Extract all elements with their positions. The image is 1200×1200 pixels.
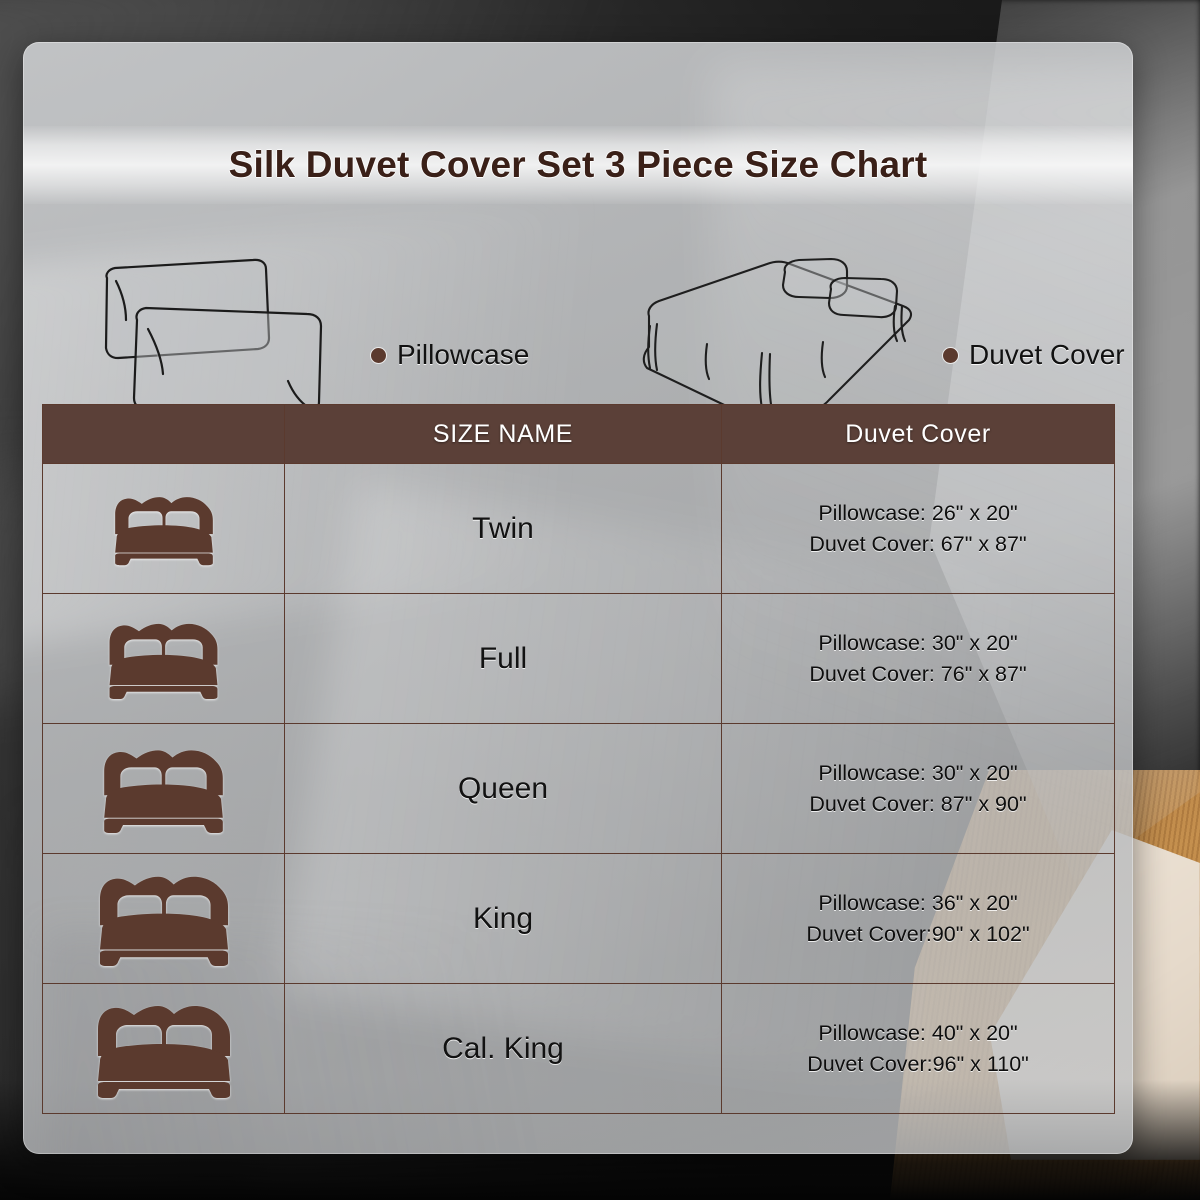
size-chart-table: SIZE NAME Duvet Cover Twin Pillowcase: 2… bbox=[42, 404, 1115, 1114]
table-header-duvet-cover: Duvet Cover bbox=[722, 405, 1115, 464]
row-1-size-name: Full bbox=[285, 594, 722, 724]
table-body: Twin Pillowcase: 26" x 20" Duvet Cover: … bbox=[43, 464, 1115, 1114]
row-3-pillowcase-dim: Pillowcase: 36" x 20" bbox=[722, 888, 1114, 919]
legend-pillowcase-label: Pillowcase bbox=[397, 339, 529, 371]
row-1-duvet-dim: Duvet Cover: 76" x 87" bbox=[722, 659, 1114, 690]
row-2-size-name: Queen bbox=[285, 724, 722, 854]
table-header: SIZE NAME Duvet Cover bbox=[43, 405, 1115, 464]
table-header-icon bbox=[43, 405, 285, 464]
table-row: Twin Pillowcase: 26" x 20" Duvet Cover: … bbox=[43, 464, 1115, 594]
row-4-dimensions: Pillowcase: 40" x 20" Duvet Cover:96" x … bbox=[722, 984, 1115, 1114]
row-3-dimensions: Pillowcase: 36" x 20" Duvet Cover:90" x … bbox=[722, 854, 1115, 984]
bed-icon-full bbox=[103, 618, 224, 700]
legend-dot-duvet-icon bbox=[943, 348, 958, 363]
bed-icon-cal-king bbox=[90, 999, 238, 1099]
row-1-bed-icon-cell bbox=[43, 594, 285, 724]
table-row: Cal. King Pillowcase: 40" x 20" Duvet Co… bbox=[43, 984, 1115, 1114]
row-1-dimensions: Pillowcase: 30" x 20" Duvet Cover: 76" x… bbox=[722, 594, 1115, 724]
row-0-size-name: Twin bbox=[285, 464, 722, 594]
row-2-duvet-dim: Duvet Cover: 87" x 90" bbox=[722, 789, 1114, 820]
pillowcase-illustration bbox=[85, 250, 345, 430]
bed-icon-twin bbox=[109, 492, 219, 566]
legend-duvet-cover: Duvet Cover bbox=[943, 339, 1125, 371]
row-0-bed-icon-cell bbox=[43, 464, 285, 594]
row-2-bed-icon-cell bbox=[43, 724, 285, 854]
row-4-duvet-dim: Duvet Cover:96" x 110" bbox=[722, 1049, 1114, 1080]
row-0-pillowcase-dim: Pillowcase: 26" x 20" bbox=[722, 498, 1114, 529]
legend-duvet-label: Duvet Cover bbox=[969, 339, 1125, 371]
row-1-pillowcase-dim: Pillowcase: 30" x 20" bbox=[722, 628, 1114, 659]
table-row: King Pillowcase: 36" x 20" Duvet Cover:9… bbox=[43, 854, 1115, 984]
row-0-duvet-dim: Duvet Cover: 67" x 87" bbox=[722, 529, 1114, 560]
page-title: Silk Duvet Cover Set 3 Piece Size Chart bbox=[23, 126, 1133, 204]
row-0-dimensions: Pillowcase: 26" x 20" Duvet Cover: 67" x… bbox=[722, 464, 1115, 594]
table-row: Full Pillowcase: 30" x 20" Duvet Cover: … bbox=[43, 594, 1115, 724]
row-4-size-name: Cal. King bbox=[285, 984, 722, 1114]
row-4-bed-icon-cell bbox=[43, 984, 285, 1114]
legend-pillowcase: Pillowcase bbox=[371, 339, 529, 371]
row-3-bed-icon-cell bbox=[43, 854, 285, 984]
table-header-row: SIZE NAME Duvet Cover bbox=[43, 405, 1115, 464]
row-2-dimensions: Pillowcase: 30" x 20" Duvet Cover: 87" x… bbox=[722, 724, 1115, 854]
row-3-size-name: King bbox=[285, 854, 722, 984]
legend-dot-pillowcase-icon bbox=[371, 348, 386, 363]
size-chart-card: Silk Duvet Cover Set 3 Piece Size Chart … bbox=[23, 42, 1133, 1154]
bed-icon-king bbox=[92, 870, 236, 967]
row-2-pillowcase-dim: Pillowcase: 30" x 20" bbox=[722, 758, 1114, 789]
table-header-size-name: SIZE NAME bbox=[285, 405, 722, 464]
bed-icon-queen bbox=[97, 744, 230, 834]
row-3-duvet-dim: Duvet Cover:90" x 102" bbox=[722, 919, 1114, 950]
table-row: Queen Pillowcase: 30" x 20" Duvet Cover:… bbox=[43, 724, 1115, 854]
row-4-pillowcase-dim: Pillowcase: 40" x 20" bbox=[722, 1018, 1114, 1049]
